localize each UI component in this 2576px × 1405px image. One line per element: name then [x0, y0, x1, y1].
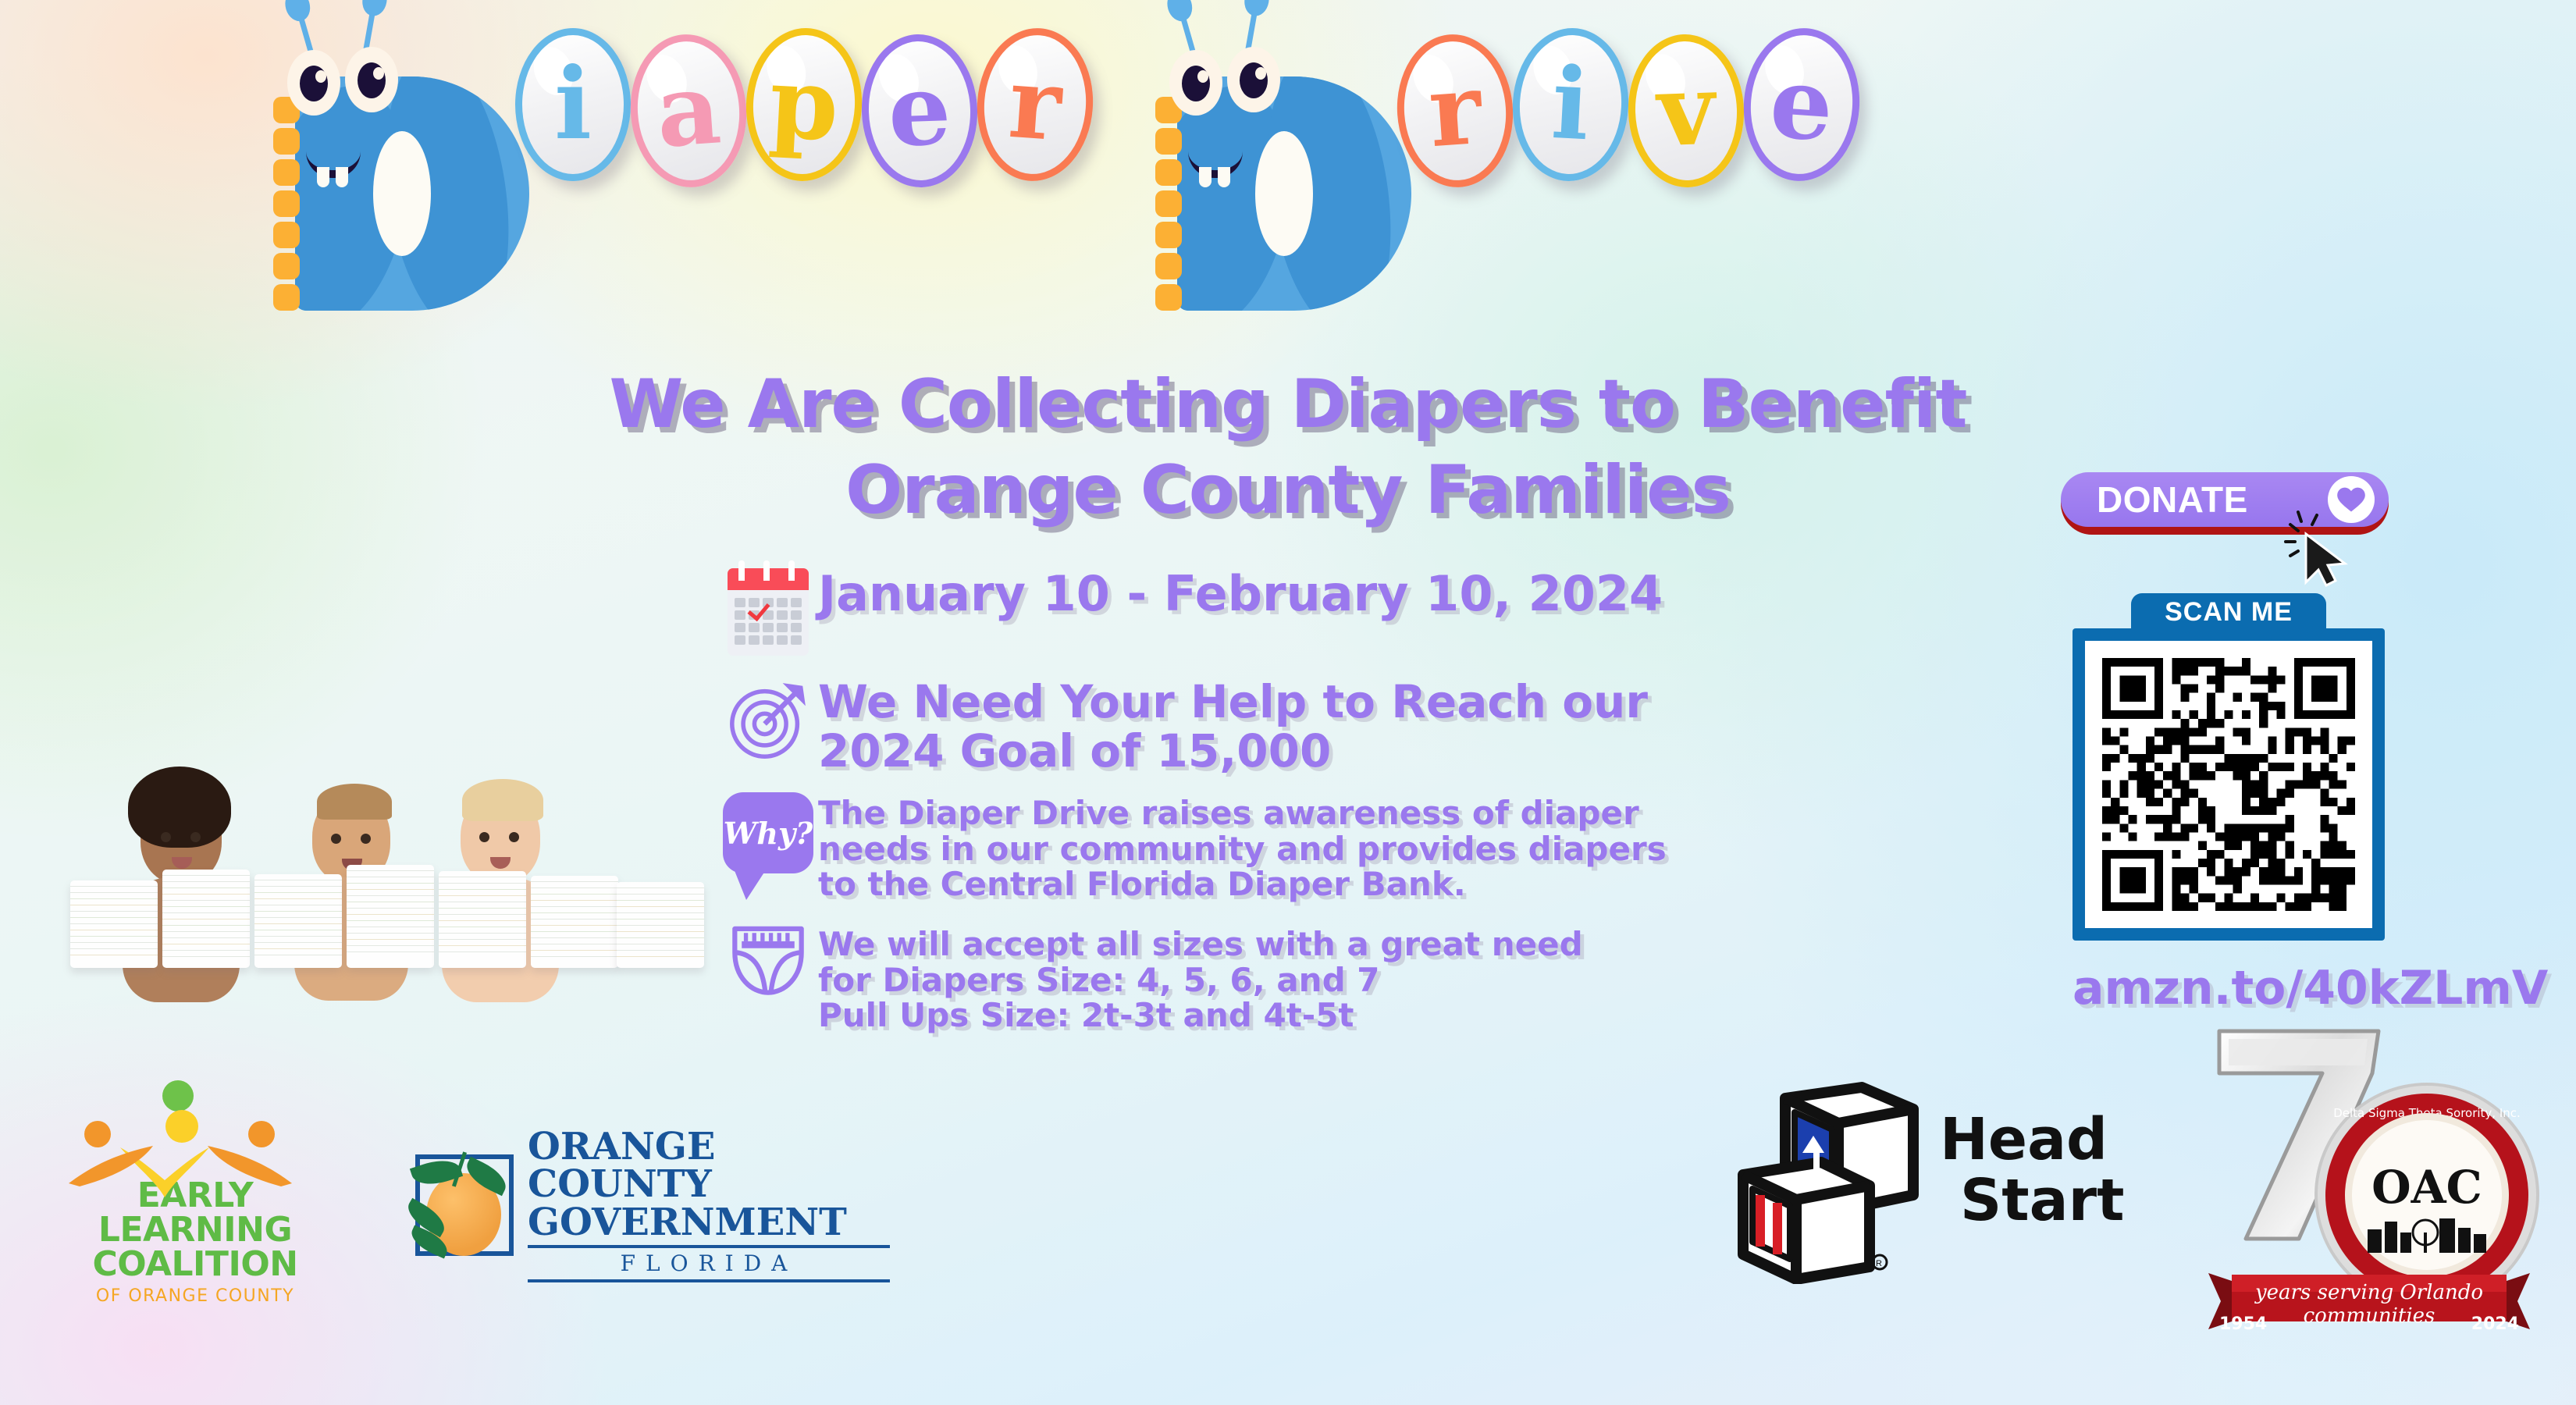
- info-row-why: Why? The Diaper Drive raises awareness o…: [718, 792, 1873, 902]
- why-text: The Diaper Drive raises awareness of dia…: [818, 792, 1667, 902]
- title-letter-p: p: [742, 25, 866, 183]
- sizes-text: We will accept all sizes with a great ne…: [818, 922, 1583, 1033]
- head-start-logo: R Head Start: [1729, 1058, 2166, 1284]
- seal-inner: OAC: [2352, 1120, 2502, 1270]
- info-row-sizes: We will accept all sizes with a great ne…: [718, 922, 1873, 1033]
- ocg-line-1: ORANGE COUNTY: [528, 1128, 890, 1203]
- title-logo: iaperrive: [258, 0, 2209, 328]
- diaper-stack: [531, 876, 618, 968]
- info-block: January 10 - February 10, 2024 We Need Y…: [718, 568, 1873, 1050]
- oac-letters: OAC: [2352, 1161, 2502, 1214]
- orange-county-government-logo: ORANGE COUNTY GOVERNMENT FLORIDA: [406, 1128, 890, 1282]
- ocg-line-3: FLORIDA: [528, 1248, 890, 1282]
- ocg-text: ORANGE COUNTY GOVERNMENT FLORIDA: [528, 1128, 890, 1282]
- calendar-icon: [718, 568, 818, 656]
- why-line-1: The Diaper Drive raises awareness of dia…: [818, 795, 1667, 831]
- anniversary-ribbon: years serving Orlando communities 1954 2…: [2205, 1261, 2533, 1336]
- sizes-line-3: Pull Ups Size: 2t-3t and 4t-5t: [818, 998, 1583, 1033]
- title-letter-v: v: [1626, 32, 1747, 189]
- ribbon-year-end: 2024: [2471, 1314, 2519, 1334]
- head-start-line-2: Start: [1960, 1171, 2124, 1232]
- babies-photo: [70, 632, 703, 968]
- diaper-stack: [70, 880, 158, 968]
- elc-figures-icon: [62, 1085, 328, 1179]
- early-learning-coalition-logo: EARLY LEARNING COALITION OF ORANGE COUNT…: [62, 1085, 328, 1306]
- head-start-text: Head Start: [1940, 1110, 2124, 1231]
- diaper-stacks: [70, 863, 703, 968]
- qr-block[interactable]: SCAN ME amzn.to/40kZLmV: [2073, 593, 2385, 1016]
- goal-line-1: We Need Your Help to Reach our: [818, 678, 1648, 727]
- skyline-icon: [2364, 1209, 2489, 1253]
- info-row-dates: January 10 - February 10, 2024: [718, 568, 1873, 656]
- diaper-stack: [439, 871, 526, 968]
- why-label: Why?: [724, 816, 813, 851]
- caterpillar-letter-d: [258, 5, 539, 317]
- diaper-stack: [254, 874, 342, 968]
- title-letter-e: e: [1738, 24, 1864, 185]
- title-letter-e: e: [859, 32, 980, 189]
- why-bubble-icon: Why?: [718, 792, 818, 873]
- elc-line-2: LEARNING: [62, 1213, 328, 1247]
- elc-line-3: COALITION: [62, 1247, 328, 1282]
- scan-me-label: SCAN ME: [2131, 593, 2326, 630]
- qr-frame: [2073, 628, 2385, 941]
- donation-url[interactable]: amzn.to/40kZLmV: [2073, 961, 2385, 1016]
- svg-text:R: R: [1876, 1259, 1882, 1268]
- seal-top-text: Delta Sigma Theta Sorority, Inc.: [2325, 1106, 2528, 1120]
- goal-text: We Need Your Help to Reach our 2024 Goal…: [818, 678, 1648, 775]
- ribbon-year-start: 1954: [2219, 1314, 2267, 1334]
- elc-subtitle: OF ORANGE COUNTY: [62, 1286, 328, 1306]
- why-line-3: to the Central Florida Diaper Bank.: [818, 866, 1667, 902]
- diaper-icon: [718, 922, 818, 997]
- title-letter-r: r: [972, 24, 1098, 185]
- qr-inner: [2085, 641, 2372, 928]
- head-start-blocks-icon: R: [1729, 1058, 1940, 1284]
- goal-line-2: 2024 Goal of 15,000: [818, 727, 1648, 776]
- title-letter-i: i: [1509, 25, 1632, 183]
- headline-line-1: We Are Collecting Diapers to Benefit: [0, 365, 2576, 443]
- donate-label: DONATE: [2097, 478, 2248, 521]
- diaper-stack: [347, 865, 434, 968]
- title-letter-i: i: [515, 28, 631, 181]
- why-line-2: needs in our community and provides diap…: [818, 831, 1667, 866]
- ribbon-text: years serving Orlando communities: [2229, 1281, 2510, 1328]
- orange-fruit-icon: [406, 1147, 523, 1264]
- ocg-line-2: GOVERNMENT: [528, 1203, 890, 1248]
- sizes-line-1: We will accept all sizes with a great ne…: [818, 927, 1583, 962]
- dates-text: January 10 - February 10, 2024: [818, 568, 1663, 621]
- diaper-stack: [617, 882, 704, 968]
- head-start-line-1: Head: [1940, 1110, 2124, 1171]
- cursor-icon: [2279, 507, 2365, 597]
- anniversary-seal-logo: Delta Sigma Theta Sorority, Inc. OAC Est…: [2205, 1019, 2533, 1346]
- title-letter-a: a: [625, 30, 751, 191]
- sizes-line-2: for Diapers Size: 4, 5, 6, and 7: [818, 962, 1583, 998]
- qr-code-image[interactable]: [2102, 658, 2355, 911]
- target-icon: [718, 678, 818, 763]
- info-row-goal: We Need Your Help to Reach our 2024 Goal…: [718, 678, 1873, 775]
- diaper-stack: [162, 870, 250, 968]
- caterpillar-letter-d: [1140, 5, 1421, 317]
